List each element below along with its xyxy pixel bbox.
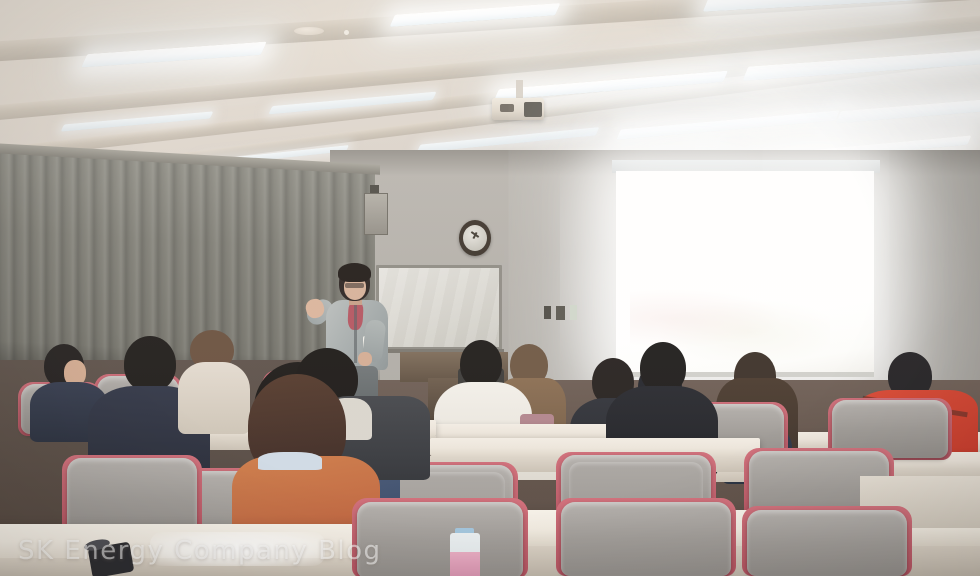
smoke-detector-icon [294,27,324,35]
whiteboard-glare [379,268,499,347]
chair[interactable] [561,502,731,576]
water-bottle-label [450,552,480,576]
chair[interactable] [747,510,907,576]
projector-vent [500,104,514,112]
wall-panel[interactable] [570,305,577,320]
attendee-white-top-head [460,340,502,388]
projector-mount [516,80,523,100]
light-switch[interactable] [556,306,565,320]
presenter-jacket-zipper [354,305,357,363]
ceiling-sensor-icon [344,30,349,35]
attendee-left-dark-hair-head [124,336,176,392]
presenter-hand [358,352,372,366]
classroom-photo: SK Energy Company Blog [0,0,980,576]
wall-outlet[interactable] [544,306,551,319]
clock-face [463,225,487,251]
presenter-glasses-icon [345,283,364,288]
projector-lens-icon [524,102,542,117]
wall-speaker [364,193,388,235]
presenter-hair [338,263,371,282]
attendee-left-light-knit-body [178,362,250,434]
orange-sweater-collar [258,452,322,470]
watermark-text: SK Energy Company Blog [18,536,382,566]
